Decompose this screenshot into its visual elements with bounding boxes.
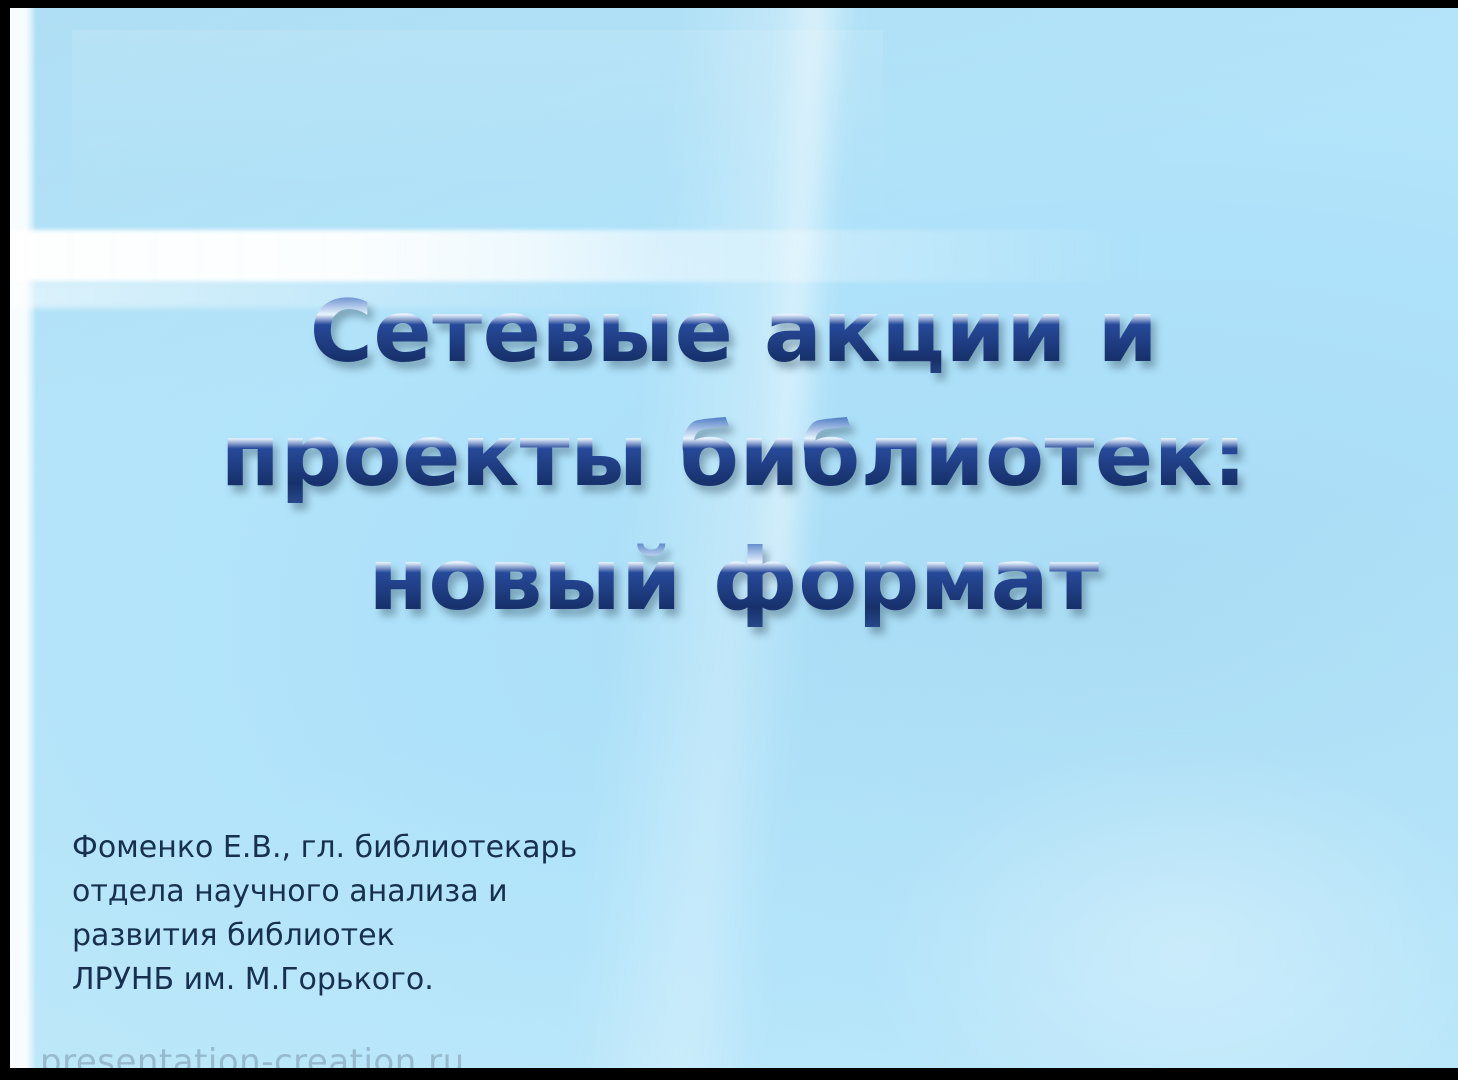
background-corner-glow: [734, 644, 1458, 1068]
title-line-3: новый формат: [10, 518, 1458, 642]
author-line-1: Фоменко Е.В., гл. библиотекарь: [72, 826, 772, 870]
slide-frame: Сетевые акции и проекты библиотек: новый…: [0, 0, 1458, 1080]
letterbox-bar-bottom: [0, 1068, 1458, 1080]
background-top-panel: [72, 30, 883, 230]
slide-canvas: Сетевые акции и проекты библиотек: новый…: [10, 8, 1458, 1068]
letterbox-bar-left: [0, 0, 10, 1080]
author-line-4: ЛРУНБ им. М.Горького.: [72, 958, 772, 1002]
slide-author-block: Фоменко Е.В., гл. библиотекарь отдела на…: [72, 826, 772, 1002]
author-line-2: отдела научного анализа и: [72, 870, 772, 914]
title-line-1: Сетевые акции и: [10, 270, 1458, 394]
title-line-2: проекты библиотек:: [10, 394, 1458, 518]
site-watermark: presentation-creation.ru: [40, 1042, 465, 1068]
letterbox-bar-top: [0, 0, 1458, 8]
slide-title: Сетевые акции и проекты библиотек: новый…: [10, 270, 1458, 642]
author-line-3: развития библиотек: [72, 914, 772, 958]
